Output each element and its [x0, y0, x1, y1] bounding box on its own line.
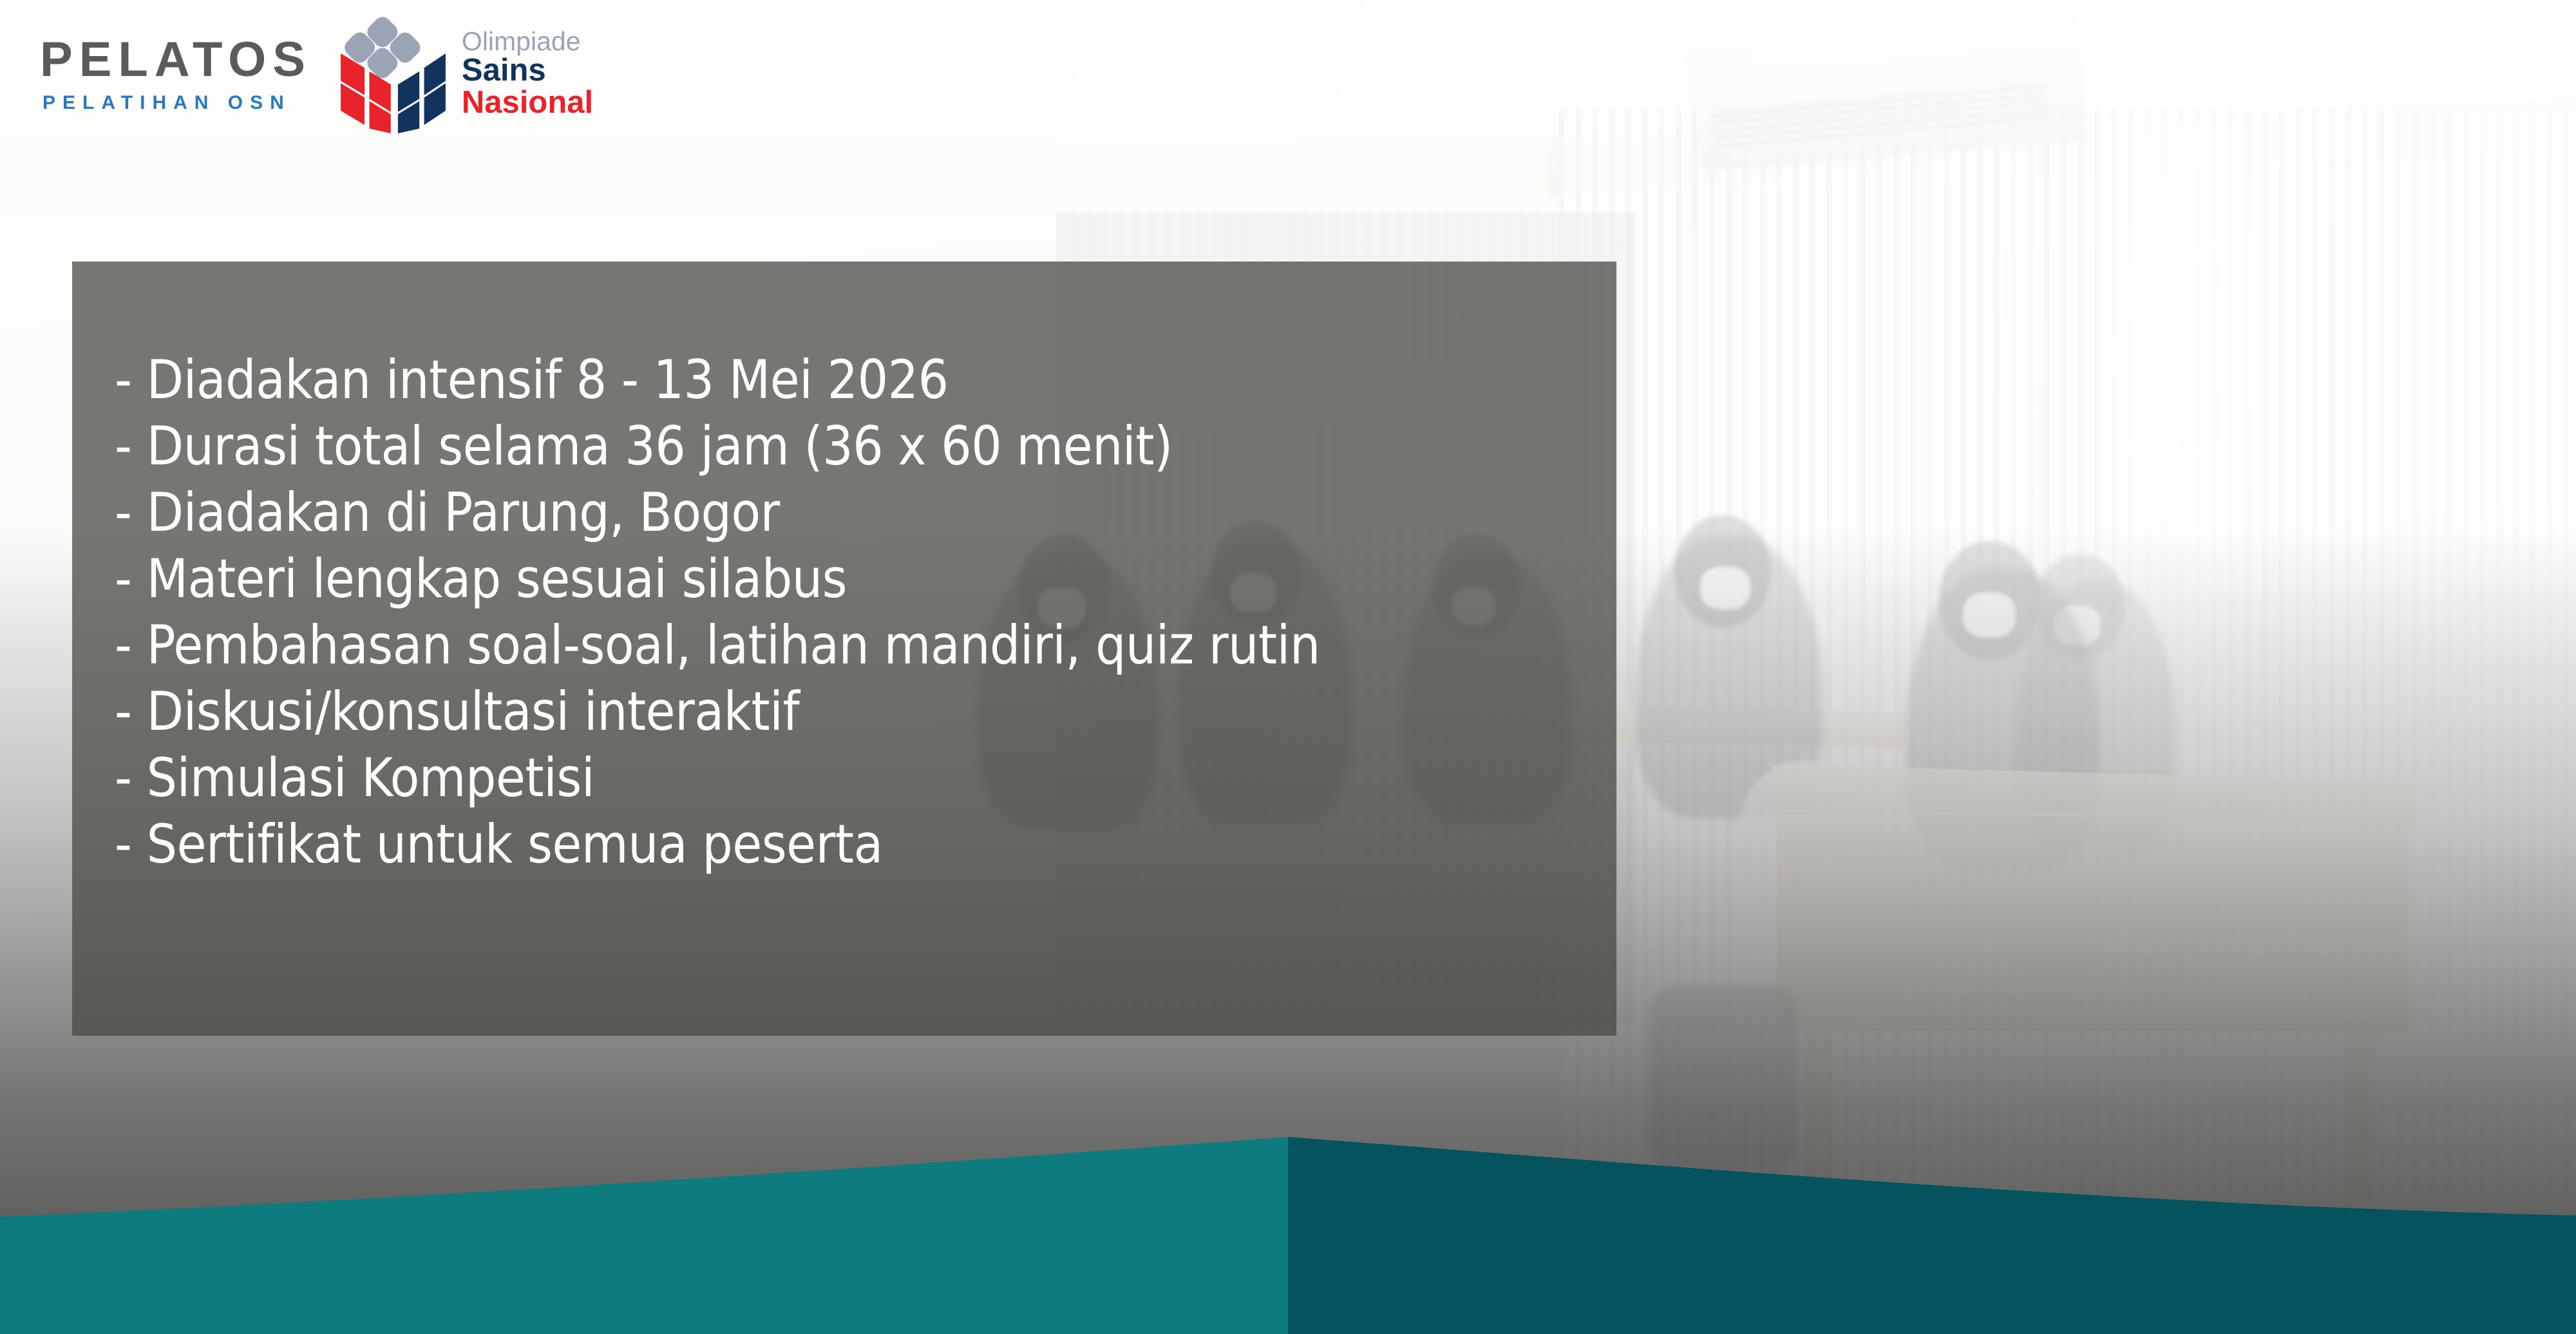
brand-tagline: PELATIHAN OSN — [43, 93, 312, 113]
brand-logo: PELATOS PELATIHAN OSN — [40, 14, 593, 133]
osn-line-olimpiade: Olimpiade — [462, 28, 593, 55]
footer-teal-left-shape — [0, 1137, 1288, 1334]
osn-line-sains: Sains — [462, 55, 593, 87]
list-item: - Diadakan di Parung, Bogor — [115, 479, 1583, 546]
brand-name: PELATOS — [40, 35, 312, 84]
pelatos-wordmark: PELATOS PELATIHAN OSN — [40, 35, 312, 113]
footer-teal-band — [0, 1089, 2576, 1334]
list-item: - Sertifikat untuk semua peserta — [115, 811, 1583, 877]
slide-canvas: PELATOS PELATIHAN OSN — [0, 0, 2576, 1334]
list-item: - Diadakan intensif 8 - 13 Mei 2026 — [115, 347, 1583, 413]
footer-teal-right-shape — [1288, 1137, 2576, 1334]
osn-cube-icon — [334, 14, 453, 133]
list-item: - Materi lengkap sesuai silabus — [115, 546, 1583, 612]
bullet-list: - Diadakan intensif 8 - 13 Mei 2026 - Du… — [115, 347, 1583, 877]
list-item: - Diskusi/konsultasi interaktif — [115, 678, 1583, 745]
osn-wordmark: Olimpiade Sains Nasional — [462, 28, 593, 120]
list-item: - Simulasi Kompetisi — [115, 745, 1583, 811]
list-item: - Durasi total selama 36 jam (36 x 60 me… — [115, 413, 1583, 479]
list-item: - Pembahasan soal-soal, latihan mandiri,… — [115, 612, 1583, 678]
osn-logo: Olimpiade Sains Nasional — [334, 14, 593, 133]
osn-line-nasional: Nasional — [462, 87, 593, 119]
